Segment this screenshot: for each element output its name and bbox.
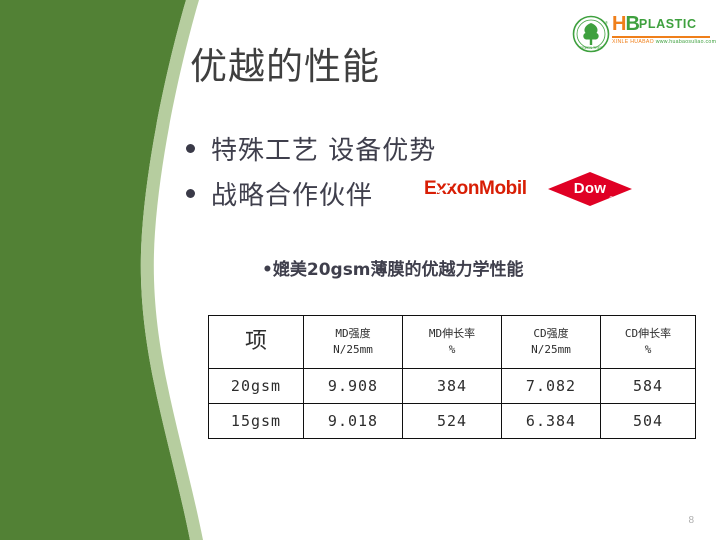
bullet-dot-icon (186, 144, 195, 153)
cell-md-strength: 9.908 (304, 369, 403, 404)
header-unit: % (602, 342, 694, 358)
table-row: 20gsm 9.908 384 7.082 584 (209, 369, 696, 404)
table-caption: •媲美20gsm薄膜的优越力学性能 (262, 255, 524, 280)
logo-subtitle: XINLE HUABAO www.huabaosuliao.com (612, 39, 712, 45)
presentation-slide: GREEN TREE ® HBPLASTIC XINLE HUABAO www.… (0, 0, 720, 540)
dow-logo: Dow ® (548, 172, 632, 206)
cell-md-elongation: 524 (403, 404, 502, 439)
logo-divider (612, 36, 710, 38)
cell-cd-strength: 6.384 (502, 404, 601, 439)
list-item: 特殊工艺 设备优势 (186, 126, 656, 171)
cell-cd-elongation: 584 (601, 369, 696, 404)
logo-plastic-text: PLASTIC (639, 17, 697, 31)
bullet-text: 特殊工艺 设备优势 (211, 130, 436, 167)
exxon-part-onmobil: onMobil (457, 178, 527, 199)
svg-text:®: ® (605, 20, 608, 25)
header-unit: N/25mm (305, 342, 401, 358)
cell-md-strength: 9.018 (304, 404, 403, 439)
cell-cd-strength: 7.082 (502, 369, 601, 404)
header-label: CD强度 (533, 327, 568, 340)
header-unit: % (404, 342, 500, 358)
row-label: 20gsm (209, 369, 304, 404)
table-header-cell-md-strength: MD强度 N/25mm (304, 316, 403, 369)
bullet-dot-icon (186, 189, 195, 198)
row-label: 15gsm (209, 404, 304, 439)
dow-registered-mark: ® (609, 196, 613, 202)
table-row: 15gsm 9.018 524 6.384 504 (209, 404, 696, 439)
table-header-cell-cd-elongation: CD伸长率 % (601, 316, 696, 369)
table-header-cell-item: 项 (209, 316, 304, 369)
header-label: MD伸长率 (429, 327, 475, 340)
header-label: CD伸长率 (625, 327, 671, 340)
slide-number: 8 (688, 515, 694, 526)
company-logo: GREEN TREE ® HBPLASTIC XINLE HUABAO www.… (572, 12, 712, 58)
header-unit: N/25mm (503, 342, 599, 358)
exxon-part-xx: xx (436, 178, 456, 200)
dow-label: Dow (548, 172, 632, 206)
exxonmobil-logo: ExxonMobil (424, 178, 527, 200)
header-label: MD强度 (335, 327, 370, 340)
cell-cd-elongation: 504 (601, 404, 696, 439)
table-header-row: 项 MD强度 N/25mm MD伸长率 % CD强度 N/25mm CD伸长率 … (209, 316, 696, 369)
logo-brand-initials: HB (612, 14, 639, 35)
mechanical-properties-table: 项 MD强度 N/25mm MD伸长率 % CD强度 N/25mm CD伸长率 … (208, 315, 696, 439)
page-title: 优越的性能 (190, 36, 380, 90)
bullet-text: 战略合作伙伴 (211, 175, 373, 212)
exxon-part-e: E (424, 178, 436, 199)
svg-text:GREEN TREE: GREEN TREE (579, 46, 603, 50)
cell-md-elongation: 384 (403, 369, 502, 404)
logo-wordmark: HBPLASTIC XINLE HUABAO www.huabaosuliao.… (612, 14, 712, 45)
green-tree-seal-icon: GREEN TREE ® (572, 15, 610, 53)
table-header-cell-cd-strength: CD强度 N/25mm (502, 316, 601, 369)
table-header-cell-md-elongation: MD伸长率 % (403, 316, 502, 369)
